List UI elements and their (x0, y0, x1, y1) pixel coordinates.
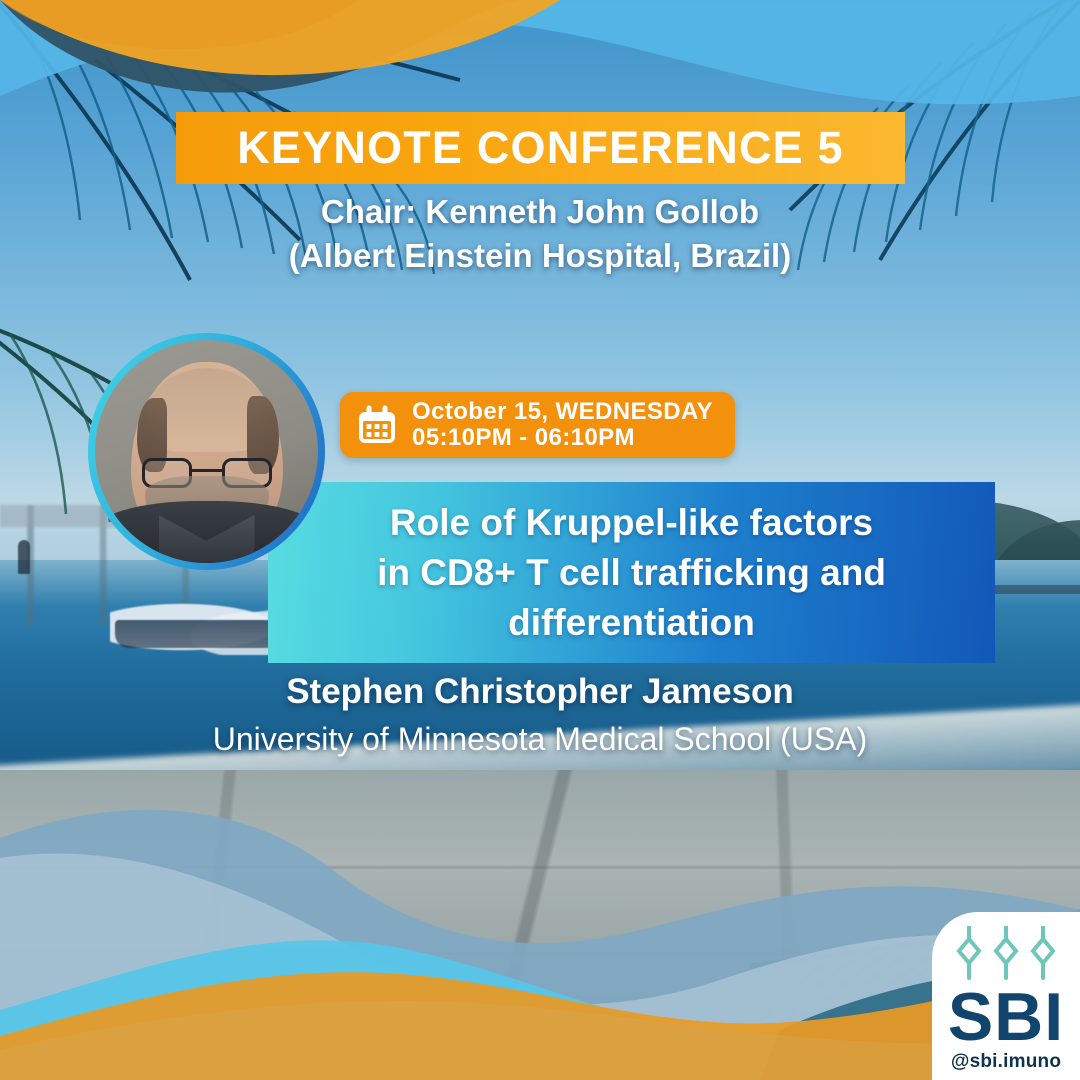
speaker-affiliation: University of Minnesota Medical School (… (0, 716, 1080, 762)
calendar-icon (356, 404, 398, 446)
session-date: October 15, WEDNESDAY (412, 399, 713, 425)
speaker-name: Stephen Christopher Jameson (0, 668, 1080, 716)
sbi-logo-card: SBI @sbi.imuno (932, 912, 1080, 1080)
sbi-handle: @sbi.imuno (951, 1051, 1061, 1073)
talk-title-banner: Role of Kruppel-like factors in CD8+ T c… (268, 482, 995, 663)
chair-block: Chair: Kenneth John Gollob (Albert Einst… (0, 190, 1080, 278)
chair-affiliation: (Albert Einstein Hospital, Brazil) (0, 234, 1080, 278)
speaker-portrait-photo (95, 340, 318, 563)
glasses-bridge (192, 469, 222, 472)
date-time-text: October 15, WEDNESDAY 05:10PM - 06:10PM (412, 399, 713, 451)
talk-title-line3: differentiation (312, 598, 952, 648)
talk-title: Role of Kruppel-like factors in CD8+ T c… (312, 498, 952, 648)
talk-title-line1: Role of Kruppel-like factors (312, 498, 952, 548)
session-time: 05:10PM - 06:10PM (412, 425, 713, 451)
date-time-badge: October 15, WEDNESDAY 05:10PM - 06:10PM (340, 392, 735, 458)
speaker-portrait-ring (88, 333, 325, 570)
sbi-wordmark: SBI (948, 984, 1064, 1050)
sbi-diamonds-icon (950, 926, 1062, 982)
pier-shape (980, 585, 1080, 594)
poster-canvas: KEYNOTE CONFERENCE 5 Chair: Kenneth John… (0, 0, 1080, 1080)
keynote-banner: KEYNOTE CONFERENCE 5 (176, 112, 905, 184)
chair-name: Chair: Kenneth John Gollob (0, 190, 1080, 234)
keynote-banner-title: KEYNOTE CONFERENCE 5 (237, 122, 844, 174)
speaker-block: Stephen Christopher Jameson University o… (0, 668, 1080, 762)
talk-title-line2: in CD8+ T cell trafficking and (312, 548, 952, 598)
